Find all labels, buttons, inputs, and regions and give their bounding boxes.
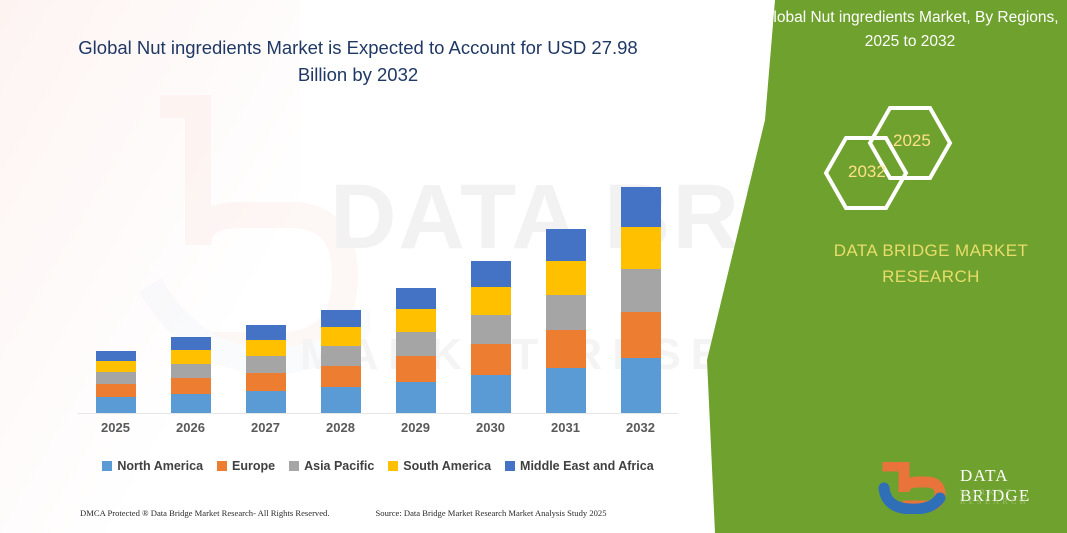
bar-segment <box>246 391 286 413</box>
bar-segment <box>471 287 511 315</box>
bar-column-2031 <box>546 229 586 413</box>
legend-swatch-icon <box>102 461 112 471</box>
bar-segment <box>321 346 361 366</box>
bar-segment <box>96 372 136 384</box>
bar-segment <box>396 288 436 309</box>
brand-line-1: DATA BRIDGE MARKET <box>834 241 1029 260</box>
legend-swatch-icon <box>388 461 398 471</box>
x-axis-label: 2026 <box>171 420 211 442</box>
bar-segment <box>471 375 511 413</box>
x-axis-label: 2029 <box>396 420 436 442</box>
bar-segment <box>471 344 511 375</box>
bar-segment <box>171 394 211 413</box>
hexagon-group: 2032 2025 <box>818 100 998 215</box>
bar-segment <box>621 187 661 227</box>
brand-line-2: RESEARCH <box>882 267 980 286</box>
bar-segment <box>396 309 436 332</box>
bar-segment <box>246 340 286 356</box>
x-axis-label: 2025 <box>96 420 136 442</box>
bar-segment <box>546 229 586 261</box>
bar-segment <box>396 382 436 413</box>
bar-segment <box>546 330 586 368</box>
bar-segment <box>321 387 361 413</box>
legend-item[interactable]: South America <box>388 459 491 473</box>
bar-segment <box>471 261 511 287</box>
bar-segment <box>171 364 211 378</box>
bar-segment <box>621 269 661 312</box>
legend-swatch-icon <box>217 461 227 471</box>
legend-label: Asia Pacific <box>304 459 374 473</box>
infographic-root: DATA BRIDGE MARKET RESEARCH Global Nut i… <box>0 0 1067 533</box>
bar-column-2025 <box>96 351 136 413</box>
chart-axis-line <box>78 413 678 414</box>
x-axis-labels: 20252026202720282029203020312032 <box>78 420 678 442</box>
chart-title: Global Nut ingredients Market is Expecte… <box>78 34 638 88</box>
bar-column-2030 <box>471 261 511 413</box>
bar-segment <box>621 227 661 269</box>
x-axis-label: 2030 <box>471 420 511 442</box>
bar-segment <box>546 261 586 295</box>
x-axis-label: 2027 <box>246 420 286 442</box>
logo-subtitle: MARKET RESEARCH <box>960 488 1067 506</box>
footer-copyright: DMCA Protected ® Data Bridge Market Rese… <box>80 508 330 518</box>
stacked-bar-chart <box>78 118 678 413</box>
legend-item[interactable]: Middle East and Africa <box>505 459 654 473</box>
hexagon-2032-label: 2032 <box>848 162 886 182</box>
x-axis-label: 2028 <box>321 420 361 442</box>
hexagon-2025-label: 2025 <box>893 131 931 151</box>
legend-label: South America <box>403 459 491 473</box>
footer: DMCA Protected ® Data Bridge Market Rese… <box>80 508 680 518</box>
brand-wordmark: DATA BRIDGE MARKET RESEARCH <box>800 238 1062 290</box>
bar-segment <box>396 356 436 382</box>
legend-swatch-icon <box>289 461 299 471</box>
bar-segment <box>396 332 436 356</box>
bar-column-2028 <box>321 310 361 413</box>
bar-segment <box>621 312 661 358</box>
bar-segment <box>471 315 511 344</box>
footer-source: Source: Data Bridge Market Research Mark… <box>376 508 607 518</box>
bar-segment <box>96 384 136 397</box>
bar-segment <box>246 356 286 373</box>
legend-item[interactable]: North America <box>102 459 203 473</box>
bar-segment <box>246 325 286 340</box>
bar-segment <box>621 358 661 413</box>
bar-segment <box>171 337 211 350</box>
bar-segment <box>246 373 286 391</box>
legend-swatch-icon <box>505 461 515 471</box>
bar-segment <box>321 327 361 346</box>
bar-segment <box>321 310 361 327</box>
bar-segment <box>171 350 211 364</box>
bar-segment <box>321 366 361 387</box>
bar-segment <box>96 361 136 372</box>
right-panel-title: Global Nut ingredients Market, By Region… <box>760 6 1060 54</box>
legend-item[interactable]: Asia Pacific <box>289 459 374 473</box>
bar-segment <box>546 368 586 413</box>
bar-column-2027 <box>246 325 286 413</box>
bar-segment <box>96 351 136 361</box>
x-axis-label: 2031 <box>546 420 586 442</box>
hexagon-shapes <box>818 100 998 215</box>
bar-column-2026 <box>171 337 211 413</box>
legend-label: Europe <box>232 459 275 473</box>
legend-label: Middle East and Africa <box>520 459 654 473</box>
legend-item[interactable]: Europe <box>217 459 275 473</box>
x-axis-label: 2032 <box>621 420 661 442</box>
bar-column-2029 <box>396 288 436 413</box>
bar-column-2032 <box>621 187 661 413</box>
bar-segment <box>96 397 136 413</box>
bar-segment <box>546 295 586 330</box>
legend-label: North America <box>117 459 203 473</box>
bar-segment <box>171 378 211 394</box>
chart-legend: North AmericaEuropeAsia PacificSouth Ame… <box>78 455 678 477</box>
